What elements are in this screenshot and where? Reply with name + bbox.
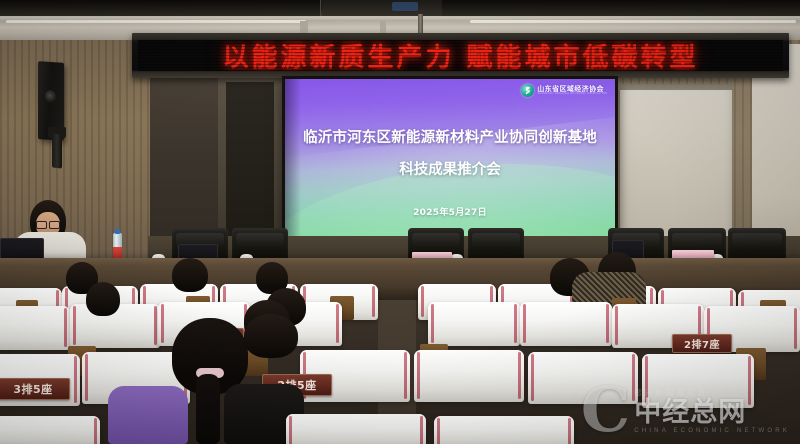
seat[interactable] [286,414,426,444]
right-wall-lintel [620,84,732,90]
attendee-head [172,258,208,292]
led-banner: 以能源新质生产力 赋能城市低碳转型 [132,33,789,78]
association-logo: 山东省区域经济协会 SHANDONG REGIONAL ECONOMIC ASS… [521,84,607,97]
ponytail [196,374,220,444]
bottle-label [113,247,122,258]
screen-title-block: 临沂市河东区新能源新材料产业协同创新基地 科技成果推介会 [285,131,615,179]
seat[interactable] [528,352,638,404]
attendee-head [244,314,298,358]
seat[interactable] [428,302,520,346]
seat[interactable] [0,416,100,444]
ceiling-beam-segment [440,0,581,17]
speaker-sub-module [52,133,62,168]
ceiling-beam-segment [580,0,800,17]
conference-hall-photo: 以能源新质生产力 赋能城市低碳转型 山东省区域经济协会 SHANDONG REG… [0,0,800,444]
association-logo-text: 山东省区域经济协会 SHANDONG REGIONAL ECONOMIC ASS… [537,85,607,96]
screen-date: 2025年5月27日 [285,205,615,218]
seat[interactable] [434,416,574,444]
ceiling-beam-segment [0,0,121,17]
association-name-en: SHANDONG REGIONAL ECONOMIC ASSOCIATION [537,93,607,96]
projector-lens-icon [392,2,418,11]
association-logo-icon [521,84,534,97]
seat-plaque: 2排7座 [672,334,732,353]
bottle-cap [115,229,120,234]
ceiling-beam-segment [260,0,321,17]
seat[interactable] [520,302,612,346]
glasses-icon [36,221,60,227]
attendee-head [86,282,120,316]
ceiling-beam-segment [120,0,261,17]
attendee-torso-purple [108,386,188,444]
ceiling-projector [322,0,442,16]
led-banner-display: 以能源新质生产力 赋能城市低碳转型 [138,40,783,71]
seat-plaque: 3排5座 [0,378,70,400]
seat[interactable] [414,350,524,402]
ceiling-light-strip [470,20,796,23]
speaker-cone-icon [45,90,56,105]
screen-title-line1: 临沂市河东区新能源新材料产业协同创新基地 [285,131,615,146]
screen-title-line2: 科技成果推介会 [285,158,615,179]
seat[interactable] [0,306,70,350]
ceiling-light-strip [6,20,306,23]
led-banner-text: 以能源新质生产力 赋能城市低碳转型 [222,40,698,71]
seat[interactable] [642,354,754,408]
